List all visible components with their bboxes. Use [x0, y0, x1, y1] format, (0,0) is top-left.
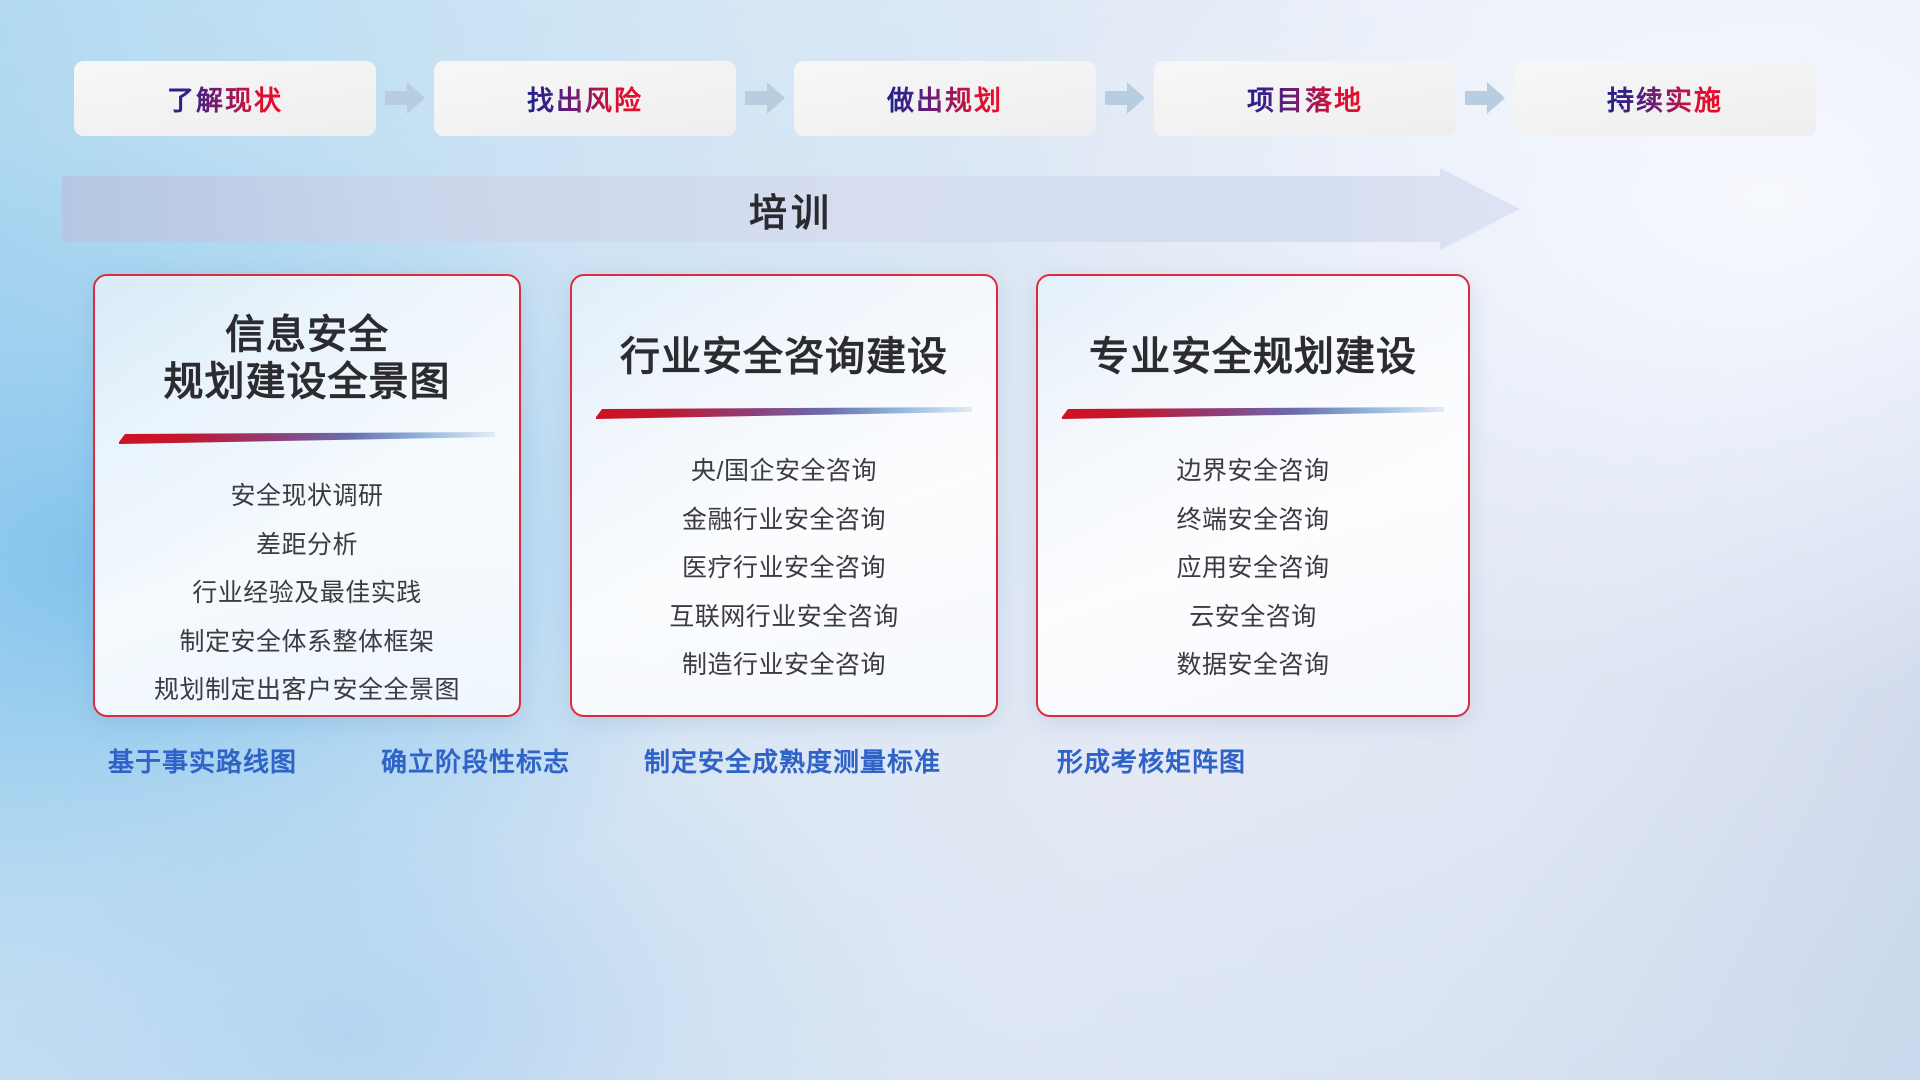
card-title-2: 专业安全规划建设 [1038, 334, 1468, 381]
card-title-line-0-0: 信息安全 [95, 312, 519, 359]
card-list-item: 数据安全咨询 [1176, 645, 1329, 686]
step-box-4[interactable]: 持续实施 [1512, 59, 1818, 138]
card-list-item: 金融行业安全咨询 [682, 500, 886, 541]
step-box-inner-0: 了解现状 [74, 61, 376, 136]
card-info-security-blueprint[interactable]: 信息安全 规划建设全景图 [93, 274, 521, 717]
card-title-line-2-0: 专业安全规划建设 [1038, 334, 1468, 381]
card-row: 信息安全 规划建设全景图 [0, 274, 1920, 717]
step-wrap-2: 做出规划 [792, 57, 1152, 139]
card-divider-0 [95, 428, 519, 448]
step-box-inner-2: 做出规划 [794, 61, 1096, 136]
process-step-row: 了解现状 找出风险 做出规划 [0, 57, 1920, 139]
step-wrap-1: 找出风险 [432, 57, 792, 139]
step-label-3: 项目落地 [1247, 79, 1363, 118]
card-professional-security-planning[interactable]: 专业安全规划建设 [1036, 274, 1470, 717]
card-title-line-1-0: 行业安全咨询建设 [572, 334, 996, 381]
card-list-item: 边界安全咨询 [1176, 451, 1329, 492]
step-label-0: 了解现状 [167, 79, 283, 118]
card-industry-security-consulting[interactable]: 行业安全咨询建设 [570, 274, 998, 717]
step-label-4: 持续实施 [1607, 79, 1723, 118]
step-box-3[interactable]: 项目落地 [1152, 59, 1458, 138]
step-arrow-icon-3 [1458, 57, 1512, 139]
step-box-inner-4: 持续实施 [1514, 61, 1816, 136]
card-list-item: 制造行业安全咨询 [682, 645, 886, 686]
card-list-item: 制定安全体系整体框架 [179, 622, 434, 663]
step-wrap-0: 了解现状 [72, 57, 432, 139]
step-box-inner-1: 找出风险 [434, 61, 736, 136]
card-list-item: 互联网行业安全咨询 [669, 597, 899, 638]
card-body-1: 行业安全咨询建设 [572, 276, 996, 715]
card-list-item: 应用安全咨询 [1176, 548, 1329, 589]
caption-0: 基于事实路线图 [108, 742, 297, 779]
step-label-1: 找出风险 [527, 79, 643, 118]
card-list-2: 边界安全咨询 终端安全咨询 应用安全咨询 云安全咨询 数据安全咨询 [1038, 451, 1468, 686]
step-wrap-4: 持续实施 [1512, 59, 1818, 138]
step-arrow-icon-2 [1098, 57, 1152, 139]
card-list-item: 安全现状调研 [230, 476, 383, 517]
step-box-0[interactable]: 了解现状 [72, 59, 378, 138]
step-box-1[interactable]: 找出风险 [432, 59, 738, 138]
card-list-item: 规划制定出客户安全全景图 [154, 670, 460, 711]
card-title-0: 信息安全 规划建设全景图 [95, 312, 519, 406]
step-wrap-3: 项目落地 [1152, 57, 1512, 139]
training-banner-label: 培训 [62, 168, 1520, 250]
card-list-item: 云安全咨询 [1189, 597, 1317, 638]
caption-2: 制定安全成熟度测量标准 [644, 742, 941, 779]
card-list-item: 医疗行业安全咨询 [682, 548, 886, 589]
caption-1: 确立阶段性标志 [381, 742, 570, 779]
card-title-1: 行业安全咨询建设 [572, 334, 996, 381]
card-divider-2 [1038, 403, 1468, 423]
card-list-item: 行业经验及最佳实践 [192, 573, 422, 614]
card-list-item: 差距分析 [256, 525, 358, 566]
step-arrow-icon-1 [738, 57, 792, 139]
card-body-2: 专业安全规划建设 [1038, 276, 1468, 715]
card-divider-1 [572, 403, 996, 423]
card-list-item: 终端安全咨询 [1176, 500, 1329, 541]
card-list-item: 央/国企安全咨询 [691, 451, 877, 492]
card-list-1: 央/国企安全咨询 金融行业安全咨询 医疗行业安全咨询 互联网行业安全咨询 制造行… [572, 451, 996, 686]
card-title-line-0-1: 规划建设全景图 [95, 359, 519, 406]
training-banner: 培训 [62, 168, 1520, 250]
step-label-2: 做出规划 [887, 79, 1003, 118]
step-box-inner-3: 项目落地 [1154, 61, 1456, 136]
step-box-2[interactable]: 做出规划 [792, 59, 1098, 138]
card-body-0: 信息安全 规划建设全景图 [95, 276, 519, 715]
caption-row: 基于事实路线图 确立阶段性标志 制定安全成熟度测量标准 形成考核矩阵图 [0, 742, 1920, 802]
caption-3: 形成考核矩阵图 [1057, 742, 1246, 779]
card-list-0: 安全现状调研 差距分析 行业经验及最佳实践 制定安全体系整体框架 规划制定出客户… [95, 476, 519, 711]
step-arrow-icon-0 [378, 57, 432, 139]
